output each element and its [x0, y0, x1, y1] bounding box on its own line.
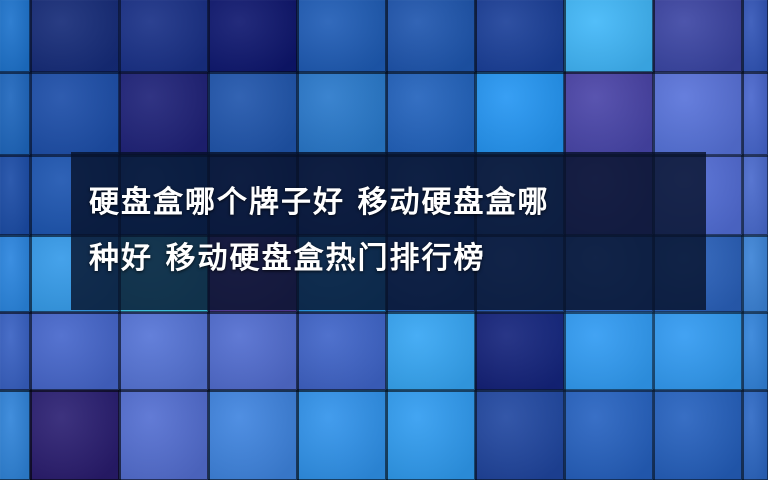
mosaic-tile: [742, 0, 768, 72]
mosaic-tile: [119, 72, 208, 155]
mosaic-tile: [119, 0, 208, 72]
mosaic-tile: [119, 312, 208, 390]
headline-line-2: 种好 移动硬盘盒热门排行榜: [89, 231, 688, 287]
mosaic-tile: [386, 72, 475, 155]
mosaic-tile: [0, 0, 30, 72]
mosaic-tile: [653, 0, 742, 72]
mosaic-tile: [208, 0, 297, 72]
mosaic-tile: [297, 72, 386, 155]
mosaic-tile: [30, 390, 119, 480]
mosaic-tile: [0, 72, 30, 155]
mosaic-tile: [475, 312, 564, 390]
mosaic-tile: [742, 390, 768, 480]
mosaic-tile: [0, 312, 30, 390]
mosaic-tile: [742, 72, 768, 155]
mosaic-tile: [0, 155, 30, 235]
mosaic-tile: [564, 72, 653, 155]
mosaic-tile: [742, 155, 768, 235]
mosaic-tile: [475, 0, 564, 72]
mosaic-tile: [30, 312, 119, 390]
mosaic-tile: [0, 390, 30, 480]
mosaic-tile: [30, 0, 119, 72]
mosaic-tile: [386, 312, 475, 390]
mosaic-tile: [564, 390, 653, 480]
mosaic-tile: [208, 72, 297, 155]
mosaic-tile: [30, 72, 119, 155]
article-banner: 硬盘盒哪个牌子好 移动硬盘盒哪 种好 移动硬盘盒热门排行榜: [0, 0, 768, 480]
mosaic-tile: [119, 390, 208, 480]
mosaic-tile: [297, 390, 386, 480]
mosaic-tile: [208, 312, 297, 390]
headline-panel: 硬盘盒哪个牌子好 移动硬盘盒哪 种好 移动硬盘盒热门排行榜: [71, 152, 706, 310]
mosaic-tile: [0, 235, 30, 312]
mosaic-tile: [742, 312, 768, 390]
headline-line-1: 硬盘盒哪个牌子好 移动硬盘盒哪: [89, 175, 688, 231]
mosaic-tile: [653, 390, 742, 480]
mosaic-tile: [475, 72, 564, 155]
mosaic-tile: [386, 0, 475, 72]
mosaic-tile: [653, 312, 742, 390]
mosaic-tile: [564, 0, 653, 72]
mosaic-tile: [564, 312, 653, 390]
mosaic-tile: [386, 390, 475, 480]
mosaic-tile: [297, 312, 386, 390]
mosaic-tile: [742, 235, 768, 312]
mosaic-tile: [208, 390, 297, 480]
mosaic-tile: [297, 0, 386, 72]
mosaic-tile: [475, 390, 564, 480]
mosaic-tile: [653, 72, 742, 155]
